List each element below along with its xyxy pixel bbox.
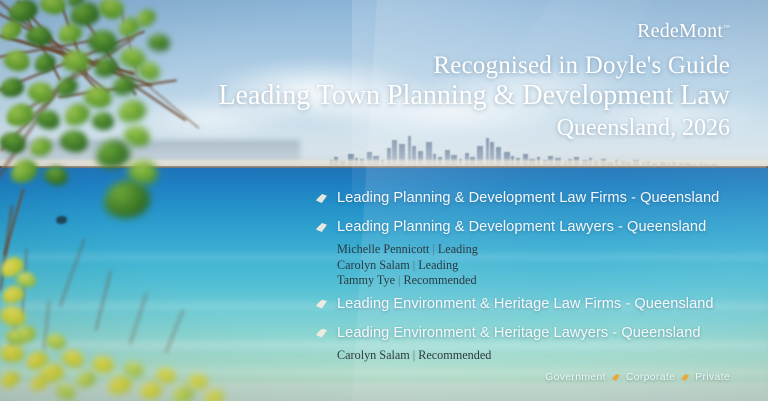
person-name: Carolyn Salam: [337, 258, 410, 272]
pipe-separator: |: [410, 258, 418, 272]
footer-service-government: Government: [545, 372, 606, 383]
footer-service-corporate: Corporate: [626, 372, 675, 383]
award-item-label: Leading Environment & Heritage Law Firms…: [337, 293, 714, 316]
leaf-bullet-icon: [316, 223, 327, 232]
leaf-bullet-icon: [316, 329, 327, 338]
ranked-person: Michelle Pennicott|Leading: [337, 242, 756, 258]
promotional-graphic: RedeMont™ Recognised in Doyle's Guide Le…: [0, 0, 768, 401]
leaf-bullet-icon: [316, 194, 327, 203]
award-item: Leading Environment & Heritage Law Firms…: [316, 293, 756, 316]
ranked-people-list: Michelle Pennicott|LeadingCarolyn Salam|…: [337, 242, 756, 289]
footer-services: GovernmentCorporatePrivate: [545, 372, 730, 383]
trademark-symbol: ™: [723, 23, 730, 31]
person-name: Carolyn Salam: [337, 348, 410, 362]
award-item-label: Leading Planning & Development Lawyers -…: [337, 216, 706, 239]
gold-leaf-separator-icon: [681, 374, 689, 381]
award-item: Leading Planning & Development Lawyers -…: [316, 216, 756, 239]
award-item-label: Leading Environment & Heritage Lawyers -…: [337, 322, 701, 345]
title-line-2: Leading Town Planning & Development Law: [218, 80, 730, 112]
award-item: Leading Environment & Heritage Lawyers -…: [316, 322, 756, 345]
ranked-person: Carolyn Salam|Recommended: [337, 348, 756, 364]
title-line-3: Queensland, 2026: [218, 113, 730, 143]
brand-name: RedeMont: [637, 20, 723, 42]
person-ranking: Recommended: [403, 273, 476, 287]
person-ranking: Recommended: [418, 348, 491, 362]
footer-service-private: Private: [695, 372, 730, 383]
title-line-1: Recognised in Doyle's Guide: [218, 52, 730, 80]
person-name: Michelle Pennicott: [337, 242, 429, 256]
leaf-bullet-icon: [316, 300, 327, 309]
person-ranking: Leading: [418, 258, 458, 272]
person-ranking: Leading: [438, 242, 478, 256]
award-item-label: Leading Planning & Development Law Firms…: [337, 187, 719, 210]
title-block: Recognised in Doyle's Guide Leading Town…: [218, 52, 730, 143]
pipe-separator: |: [429, 242, 437, 256]
person-name: Tammy Tye: [337, 273, 395, 287]
pipe-separator: |: [410, 348, 418, 362]
gold-leaf-separator-icon: [612, 374, 620, 381]
ranked-person: Tammy Tye|Recommended: [337, 273, 756, 289]
ranked-person: Carolyn Salam|Leading: [337, 258, 756, 274]
award-item: Leading Planning & Development Law Firms…: [316, 187, 756, 210]
ranked-people-list: Carolyn Salam|Recommended: [337, 348, 756, 364]
award-list: Leading Planning & Development Law Firms…: [316, 187, 756, 367]
brand-logo: RedeMont™: [637, 20, 730, 43]
